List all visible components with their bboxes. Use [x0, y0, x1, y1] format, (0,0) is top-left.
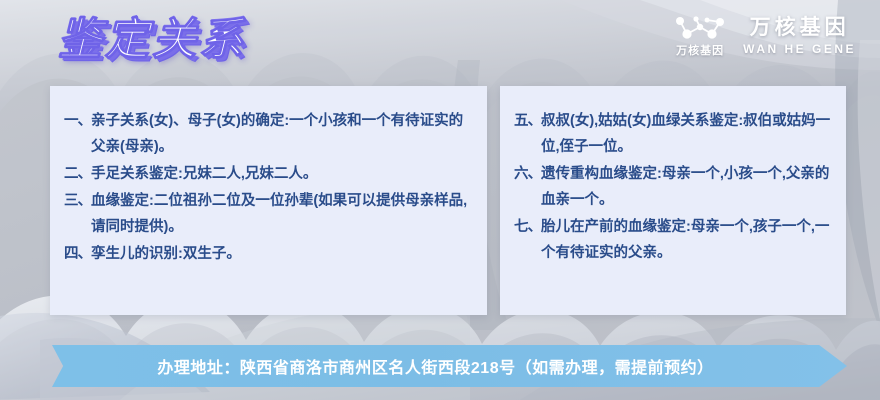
list-item-number: 五、 — [514, 108, 541, 134]
list-item: 一、 亲子关系(女)、母子(女)的确定:一个小孩和一个有待证实的父亲(母亲)。 — [64, 108, 475, 160]
left-content-panel: 一、 亲子关系(女)、母子(女)的确定:一个小孩和一个有待证实的父亲(母亲)。 … — [50, 86, 487, 315]
brand-text: 万核基因 WAN HE GENE — [743, 16, 856, 56]
list-item: 七、 胎儿在产前的血缘鉴定:母亲一个,孩子一个,一个有待证实的父亲。 — [514, 214, 834, 266]
list-item: 二、 手足关系鉴定:兄妹二人,兄妹二人。 — [64, 161, 475, 187]
list-item-text: 胎儿在产前的血缘鉴定:母亲一个,孩子一个,一个有待证实的父亲。 — [541, 214, 834, 266]
address-banner: 办理地址：陕西省商洛市商州区名人街西段218号（如需办理，需提前预约） — [52, 345, 847, 387]
list-item: 四、 孪生儿的识别:双生子。 — [64, 241, 475, 267]
brand-mark-label: 万核基因 — [676, 45, 724, 57]
molecule-network-icon — [671, 14, 729, 42]
list-item-text: 叔叔(女),姑姑(女)血绿关系鉴定:叔伯或姑妈一位,侄子一位。 — [541, 108, 834, 160]
brand-logo: 万核基因 万核基因 WAN HE GENE — [671, 14, 856, 57]
address-banner-text: 办理地址：陕西省商洛市商州区名人街西段218号（如需办理，需提前预约） — [52, 345, 847, 387]
right-item-list: 五、 叔叔(女),姑姑(女)血绿关系鉴定:叔伯或姑妈一位,侄子一位。 六、 遗传… — [514, 108, 834, 266]
right-content-panel: 五、 叔叔(女),姑姑(女)血绿关系鉴定:叔伯或姑妈一位,侄子一位。 六、 遗传… — [500, 86, 846, 315]
list-item-text: 亲子关系(女)、母子(女)的确定:一个小孩和一个有待证实的父亲(母亲)。 — [91, 108, 475, 160]
list-item: 六、 遗传重构血缘鉴定:母亲一个,小孩一个,父亲的血亲一个。 — [514, 161, 834, 213]
list-item-text: 遗传重构血缘鉴定:母亲一个,小孩一个,父亲的血亲一个。 — [541, 161, 834, 213]
list-item-number: 二、 — [64, 161, 91, 187]
brand-name-en: WAN HE GENE — [743, 42, 856, 56]
list-item: 三、 血缘鉴定:二位祖孙二位及一位孙辈(如果可以提供母亲样品,请同时提供)。 — [64, 188, 475, 240]
list-item-number: 七、 — [514, 214, 541, 240]
brand-name-cn: 万核基因 — [750, 16, 850, 40]
poster-canvas: 鉴定关系 — [0, 0, 880, 400]
brand-mark: 万核基因 — [671, 14, 729, 57]
page-title: 鉴定关系 — [58, 12, 246, 68]
list-item-text: 孪生儿的识别:双生子。 — [91, 241, 475, 267]
left-item-list: 一、 亲子关系(女)、母子(女)的确定:一个小孩和一个有待证实的父亲(母亲)。 … — [64, 108, 475, 267]
list-item-number: 一、 — [64, 108, 91, 134]
list-item: 五、 叔叔(女),姑姑(女)血绿关系鉴定:叔伯或姑妈一位,侄子一位。 — [514, 108, 834, 160]
list-item-text: 血缘鉴定:二位祖孙二位及一位孙辈(如果可以提供母亲样品,请同时提供)。 — [91, 188, 475, 240]
list-item-number: 四、 — [64, 241, 91, 267]
list-item-text: 手足关系鉴定:兄妹二人,兄妹二人。 — [91, 161, 475, 187]
list-item-number: 六、 — [514, 161, 541, 187]
list-item-number: 三、 — [64, 188, 91, 214]
